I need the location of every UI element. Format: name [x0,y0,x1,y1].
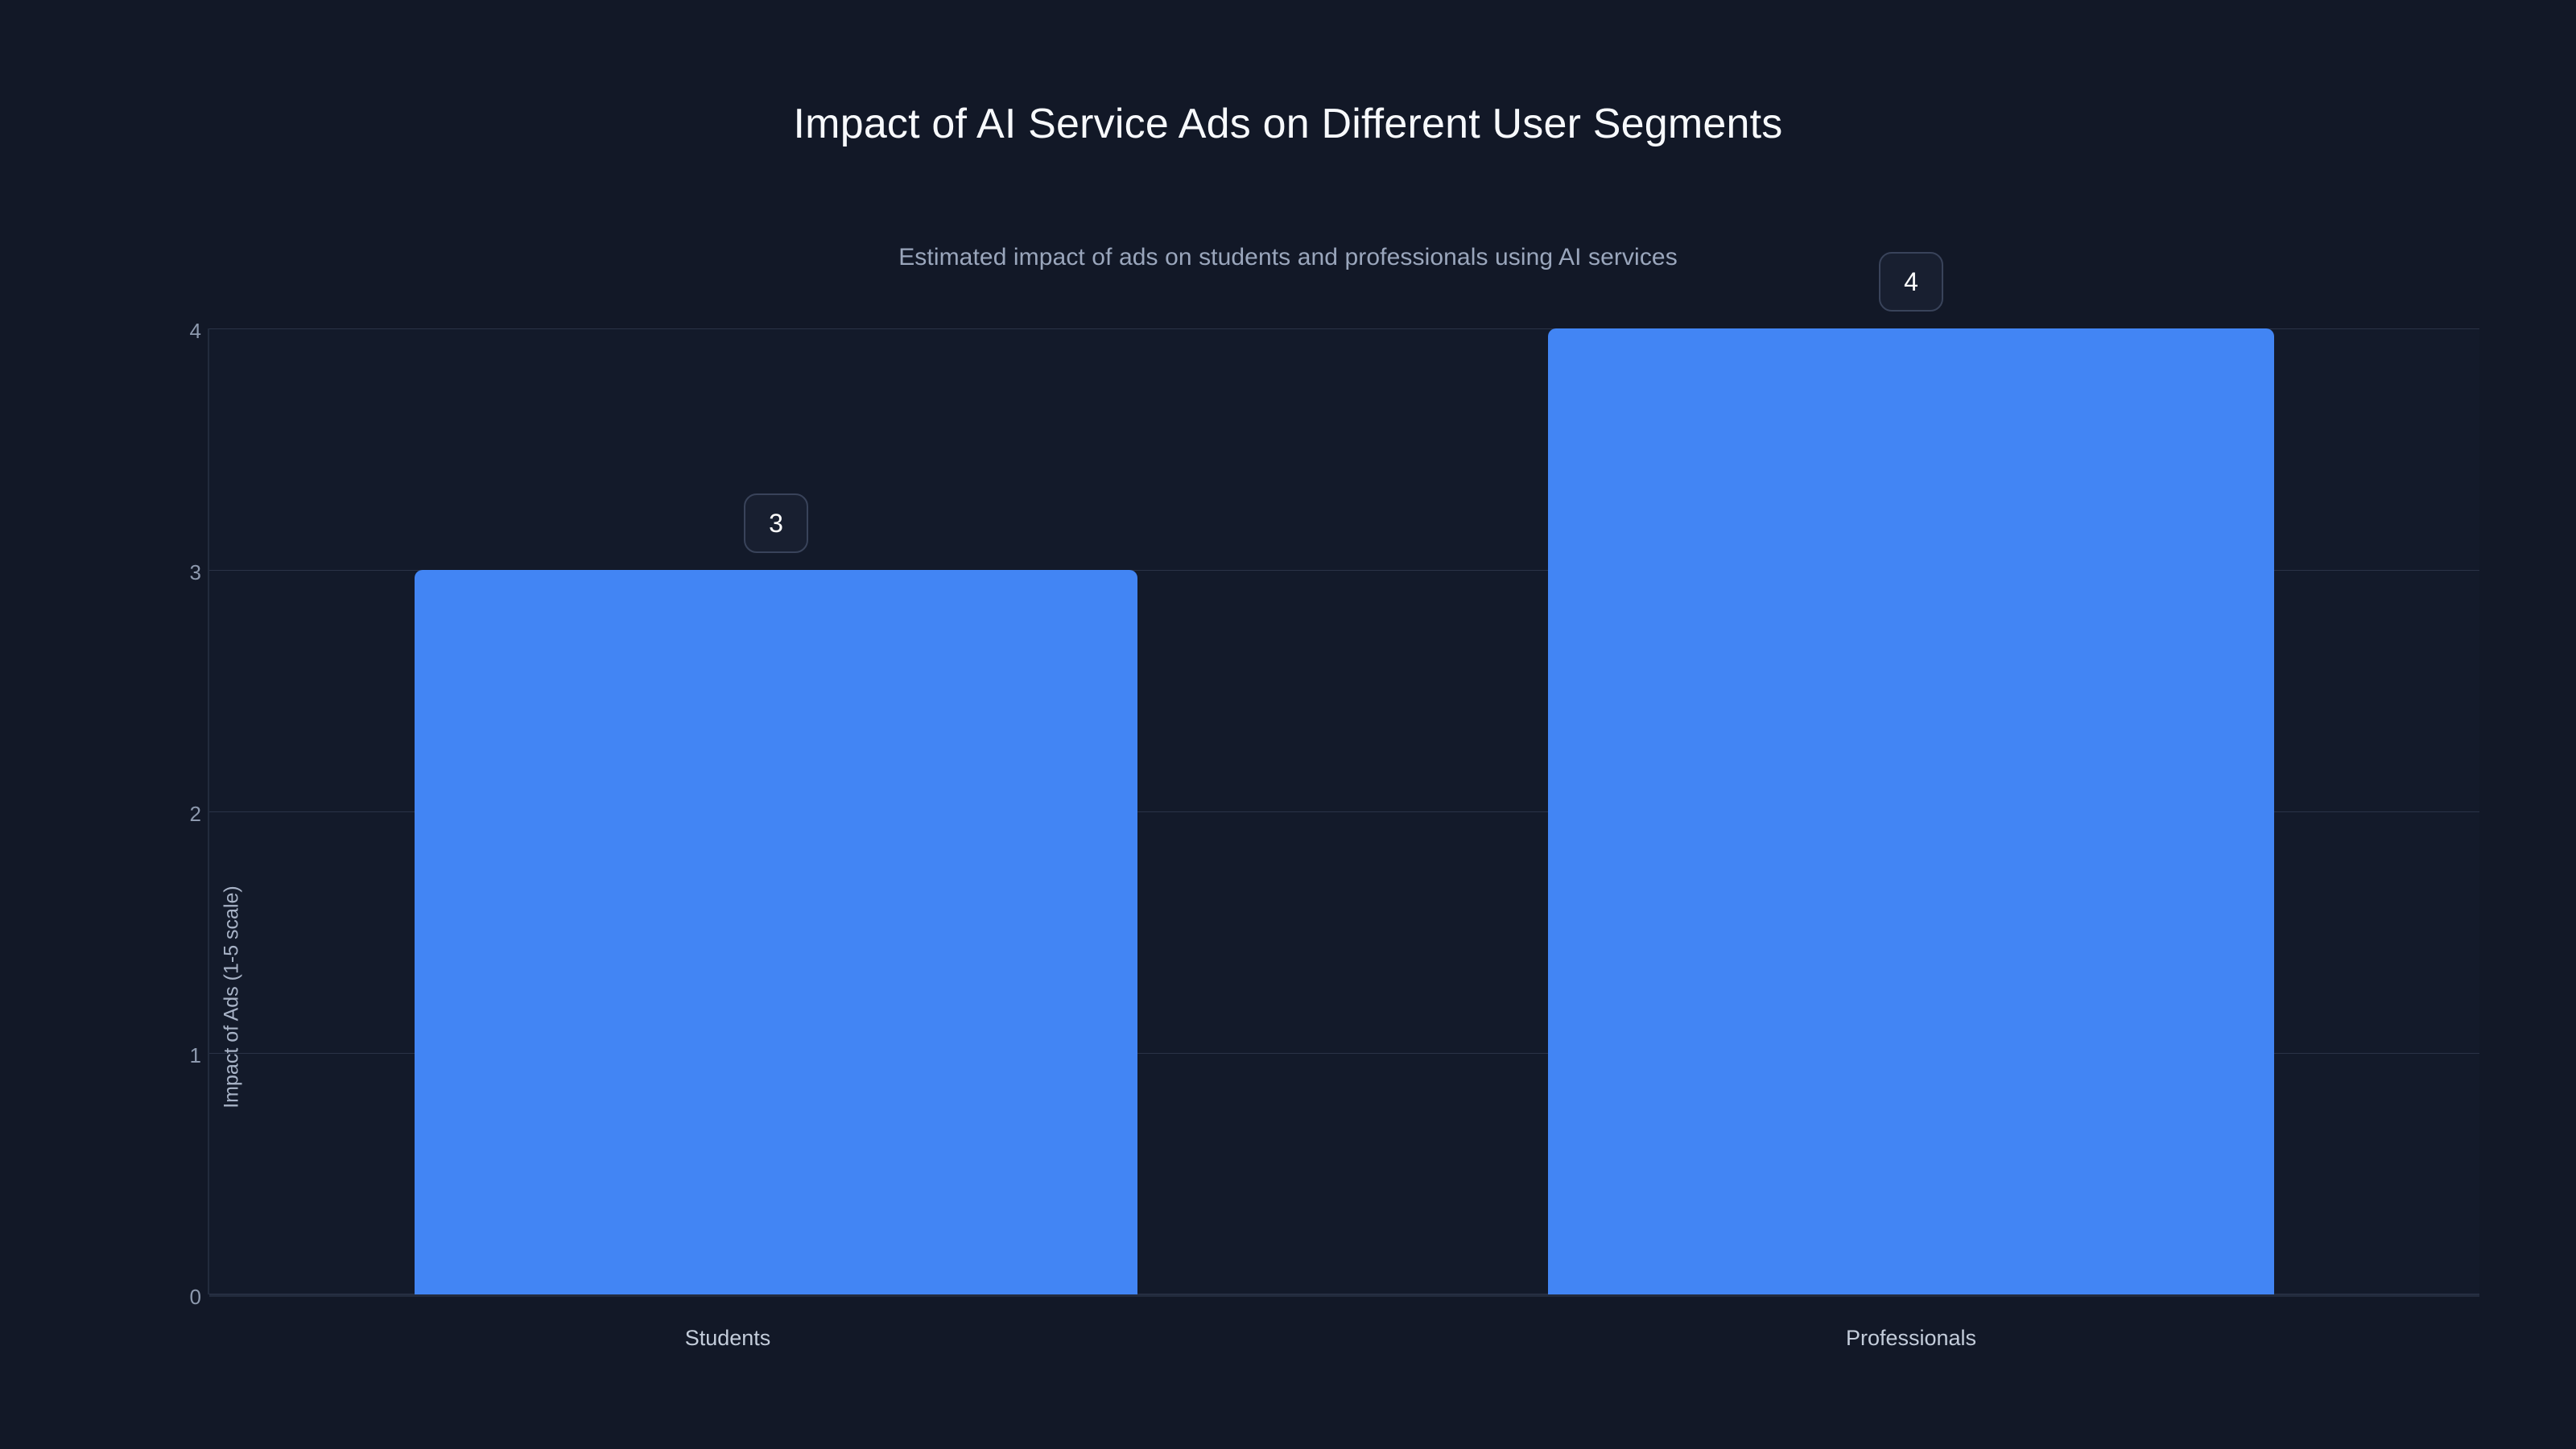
page-title: Impact of AI Service Ads on Different Us… [0,100,2576,148]
bar-students[interactable] [415,570,1137,1294]
plot-area: Impact of Ads (1-5 scale) [209,328,2479,1294]
y-tick-label-2: 2 [153,803,201,824]
y-tick-label-4: 4 [153,320,201,341]
x-axis-line [209,1294,2479,1297]
y-axis-title: Impact of Ads (1-5 scale) [221,844,244,1150]
bar-professionals[interactable] [1548,328,2274,1294]
y-tick-label-0: 0 [153,1286,201,1307]
x-tick-label-students: Students [535,1326,921,1351]
y-tick-label-3: 3 [153,562,201,583]
x-tick-label-professionals: Professionals [1718,1326,2104,1351]
value-badge-professionals: 4 [1879,252,1943,312]
chart-subtitle: Estimated impact of ads on students and … [0,244,2576,271]
value-badge-students: 3 [744,493,808,553]
bar-chart-card: Impact of AI Service Ads on Different Us… [0,0,2576,1449]
y-tick-label-1: 1 [153,1045,201,1066]
